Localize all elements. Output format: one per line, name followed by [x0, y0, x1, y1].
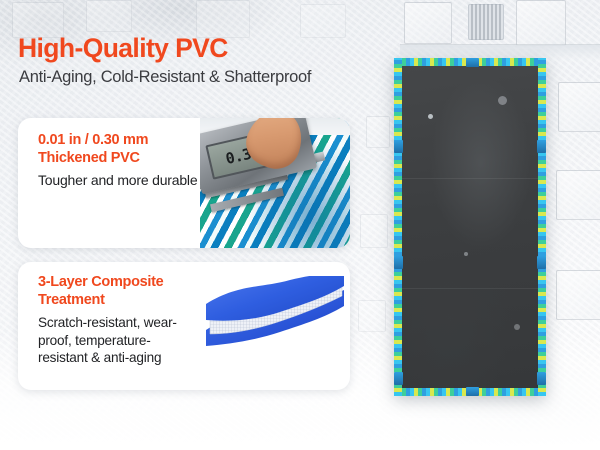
composite-layers-diagram	[200, 262, 350, 390]
paving-slab	[404, 2, 452, 44]
pool-cover-surface	[402, 66, 538, 388]
page-subtitle: Anti-Aging, Cold-Resistant & Shatterproo…	[19, 68, 311, 87]
caliper-photo: 0.30	[200, 118, 350, 248]
pool-cover-seam	[402, 288, 538, 289]
paving-slab	[556, 270, 600, 320]
snow-fleck	[464, 252, 468, 256]
snow-fleck	[498, 96, 507, 105]
paving-slab	[86, 0, 132, 32]
paving-slab	[360, 214, 388, 248]
anchor-tab	[466, 387, 479, 396]
pool-cover-seam	[402, 178, 538, 179]
anchor-tab	[394, 140, 403, 153]
anchor-tab	[537, 372, 546, 385]
paving-slab	[558, 82, 600, 132]
pool-cover-product	[394, 58, 546, 396]
snow-fleck	[428, 114, 433, 119]
product-border-right	[538, 58, 546, 396]
paving-slab	[366, 116, 390, 148]
title-line-1: 0.01 in / 0.30 mm	[38, 132, 200, 150]
anchor-tab	[537, 140, 546, 153]
feature-card-composite-title: 3-Layer Composite Treatment	[38, 274, 200, 309]
paving-slab	[468, 4, 504, 40]
three-layer-illustration	[204, 276, 350, 376]
feature-card-thickness: 0.01 in / 0.30 mm Thickened PVC Tougher …	[18, 118, 350, 248]
feature-card-thickness-body: Tougher and more durable	[38, 172, 200, 190]
anchor-tab	[537, 256, 546, 269]
snow-fleck	[514, 324, 520, 330]
anchor-tab	[466, 58, 479, 67]
feature-card-composite-text: 3-Layer Composite Treatment Scratch-resi…	[18, 262, 200, 390]
paving-slab	[358, 300, 386, 332]
title-line-2: Treatment	[38, 292, 200, 310]
feature-card-composite: 3-Layer Composite Treatment Scratch-resi…	[18, 262, 350, 390]
feature-card-thickness-title: 0.01 in / 0.30 mm Thickened PVC	[38, 132, 200, 167]
product-border-left	[394, 58, 402, 396]
paving-slab	[300, 4, 346, 38]
paving-slab	[516, 0, 566, 46]
feature-card-composite-body: Scratch-resistant, wear-proof, temperatu…	[38, 314, 200, 365]
anchor-tab	[394, 372, 403, 385]
title-line-1: 3-Layer Composite	[38, 274, 200, 292]
infographic-canvas: High-Quality PVC Anti-Aging, Cold-Resist…	[0, 0, 600, 450]
title-line-2: Thickened PVC	[38, 150, 200, 168]
page-title: High-Quality PVC	[18, 33, 228, 64]
paving-slab	[556, 170, 600, 220]
feature-card-thickness-text: 0.01 in / 0.30 mm Thickened PVC Tougher …	[18, 118, 200, 248]
anchor-tab	[394, 256, 403, 269]
